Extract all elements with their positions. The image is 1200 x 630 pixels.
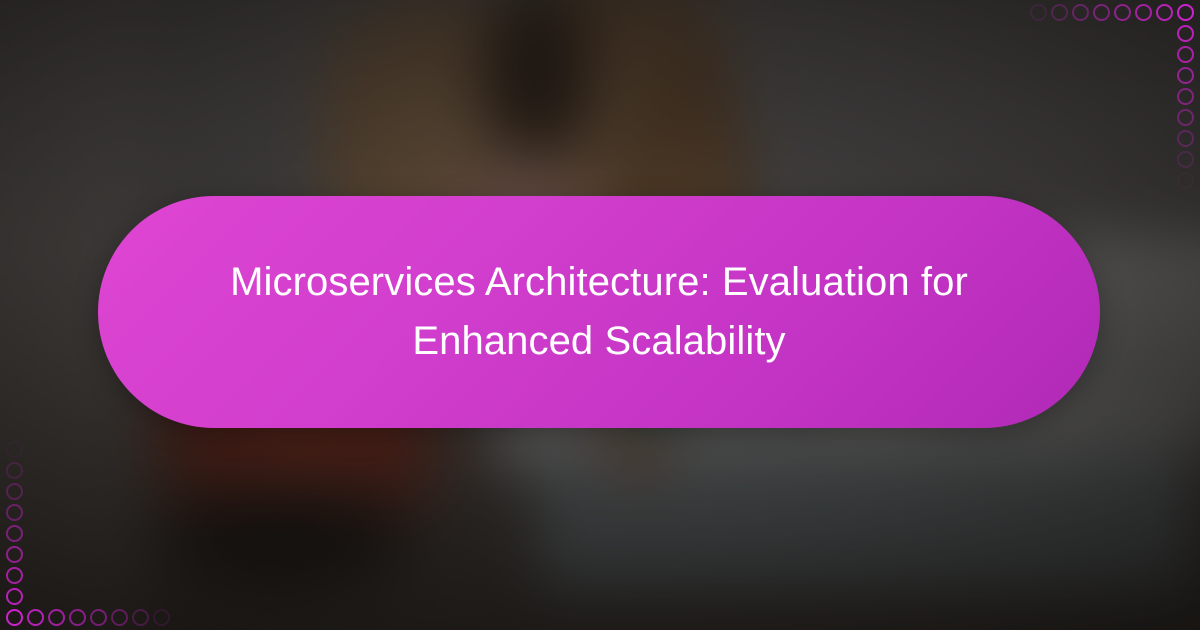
decorative-ring [1177, 4, 1194, 21]
decorative-ring [1114, 4, 1131, 21]
decorative-ring [6, 462, 23, 479]
decorative-ring [1072, 4, 1089, 21]
decorative-ring [6, 525, 23, 542]
decorative-ring [48, 609, 65, 626]
decorative-ring [1030, 4, 1047, 21]
decorative-ring [27, 609, 44, 626]
decorative-rings-top-right [990, 0, 1200, 200]
decorative-ring [1177, 151, 1194, 168]
decorative-ring [1135, 4, 1152, 21]
decorative-ring [6, 504, 23, 521]
decorative-ring [1093, 4, 1110, 21]
decorative-ring [6, 588, 23, 605]
decorative-ring [132, 609, 149, 626]
decorative-ring [1177, 130, 1194, 147]
decorative-ring [1177, 109, 1194, 126]
decorative-rings-bottom-left [0, 430, 210, 630]
decorative-ring [6, 567, 23, 584]
decorative-ring [1177, 88, 1194, 105]
decorative-ring [6, 609, 23, 626]
decorative-ring [6, 441, 23, 458]
decorative-ring [1177, 25, 1194, 42]
decorative-ring [69, 609, 86, 626]
decorative-ring [6, 483, 23, 500]
decorative-ring [1177, 46, 1194, 63]
decorative-ring [1177, 172, 1194, 189]
og-banner: Microservices Architecture: Evaluation f… [0, 0, 1200, 630]
decorative-ring [6, 546, 23, 563]
decorative-ring [90, 609, 107, 626]
decorative-ring [1177, 67, 1194, 84]
decorative-ring [153, 609, 170, 626]
decorative-ring [111, 609, 128, 626]
title-card: Microservices Architecture: Evaluation f… [98, 196, 1100, 428]
page-title: Microservices Architecture: Evaluation f… [219, 253, 979, 371]
decorative-ring [1051, 4, 1068, 21]
decorative-ring [1156, 4, 1173, 21]
